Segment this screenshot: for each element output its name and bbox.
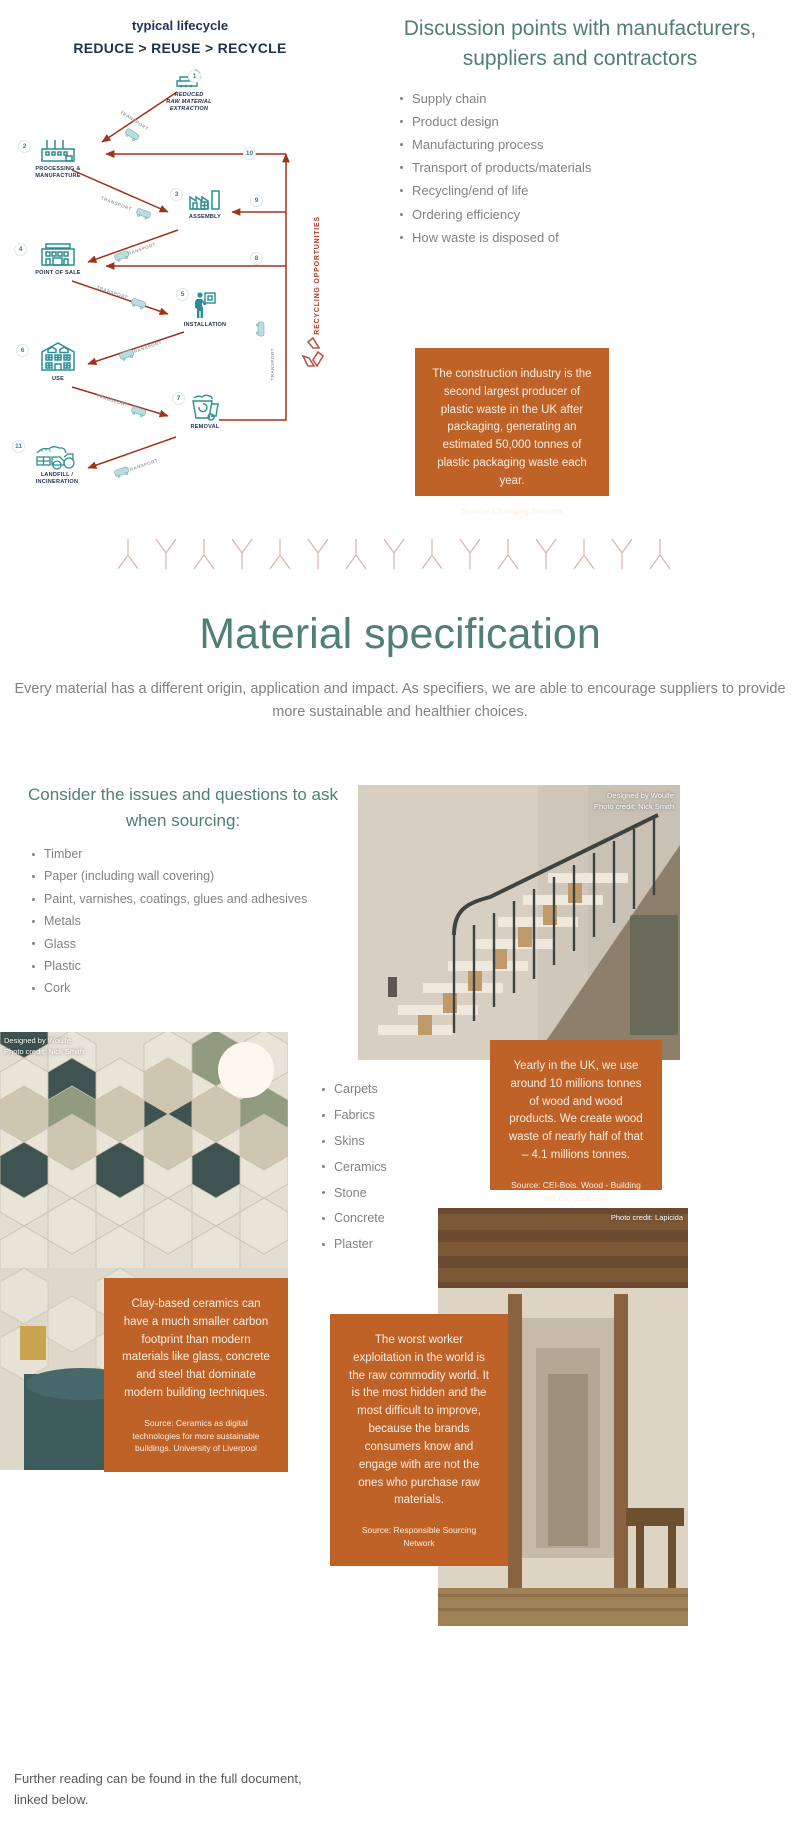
lifecycle-badge-1: 1 [188, 70, 201, 83]
lifecycle-node-label: POINT OF SALE [22, 270, 94, 277]
lifecycle-badge-4: 4 [14, 243, 27, 256]
stat-box-sourcing: The worst worker exploitation in the wor… [330, 1314, 508, 1566]
lifecycle-badge-8: 8 [250, 252, 263, 265]
stat-box-wood: Yearly in the UK, we use around 10 milli… [490, 1040, 662, 1190]
lifecycle-node-label: LANDFILL / INCINERATION [20, 472, 94, 486]
waste-bin-icon [187, 392, 223, 422]
lifecycle-badge-2: 2 [18, 140, 31, 153]
list-item: Transport of products/materials [398, 158, 800, 178]
lifecycle-node-label: REDUCED RAW MATERIAL EXTRACTION [150, 92, 228, 113]
stat-text: Clay-based ceramics can have a much smal… [120, 1296, 272, 1403]
list-item: Manufacturing process [398, 135, 800, 155]
sourcing-materials-list-a: Timber Paper (including wall covering) P… [30, 845, 350, 1002]
list-item: Timber [30, 845, 350, 864]
lifecycle-badge-6: 6 [16, 344, 29, 357]
stat-text: Yearly in the UK, we use around 10 milli… [506, 1058, 646, 1165]
list-item: Recycling/end of life [398, 181, 800, 201]
lifecycle-node-label: ASSEMBLY [170, 214, 240, 221]
stat-source: Source: Responsible Sourcing Network [346, 1524, 492, 1550]
lifecycle-node-label: INSTALLATION [172, 322, 238, 329]
list-item: Ordering efficiency [398, 205, 800, 225]
lifecycle-node-use: USE [26, 340, 90, 383]
sourcing-heading: Consider the issues and questions to ask… [18, 782, 348, 833]
factory-icon [38, 136, 78, 164]
further-reading-text: Further reading can be found in the full… [14, 1768, 314, 1810]
stat-source: Source: Changing Streams [431, 505, 593, 518]
discussion-heading: Discussion points with manufacturers, su… [360, 0, 800, 75]
list-item: Supply chain [398, 89, 800, 109]
lifecycle-badge-3: 3 [170, 188, 183, 201]
house-icon [36, 340, 80, 374]
list-item: Cork [30, 979, 350, 998]
lifecycle-node-processing: PROCESSING & MANUFACTURE [26, 136, 90, 180]
photo-credit: Photo credit: Lapicida [611, 1213, 683, 1224]
discussion-points-section: Discussion points with manufacturers, su… [360, 0, 800, 251]
photo-credit: Designed by Woulfe Photo credit: Nick Sm… [4, 1036, 84, 1058]
lifecycle-node-landfill: LANDFILL / INCINERATION [20, 444, 94, 486]
material-spec-intro: Every material has a different origin, a… [14, 678, 786, 725]
list-item: Glass [30, 935, 350, 954]
list-item: Paint, varnishes, coatings, glues and ad… [30, 890, 350, 909]
bulldozer-icon [33, 444, 81, 470]
staircase-image [358, 785, 680, 1060]
stat-source: Source: CEI-Bois. Wood - Building the Bi… [506, 1179, 646, 1205]
list-item: Product design [398, 112, 800, 132]
installer-icon [191, 290, 219, 320]
lifecycle-badge-11: 11 [12, 440, 25, 453]
lifecycle-diagram: typical lifecycle REDUCE > REUSE > RECYC… [0, 0, 360, 520]
stat-source: Source: Ceramics as digital technologies… [120, 1417, 272, 1455]
stat-text: The construction industry is the second … [431, 366, 593, 491]
assembly-plant-icon [185, 186, 225, 212]
list-item: How waste is disposed of [398, 228, 800, 248]
list-item: Metals [30, 912, 350, 931]
lifecycle-badge-5: 5 [176, 288, 189, 301]
recycling-opportunities-label: RECYCLING OPPORTUNITIES [314, 216, 321, 335]
lifecycle-node-label: USE [26, 376, 90, 383]
stat-box-ceramics: Clay-based ceramics can have a much smal… [104, 1278, 288, 1472]
transport-label-vertical: TRANSPORT [270, 348, 275, 381]
photo-credit: Designed by Woulfe Photo credit: Nick Sm… [594, 791, 674, 813]
lifecycle-node-point-of-sale: POINT OF SALE [22, 240, 94, 277]
lifecycle-node-label: REMOVAL [176, 424, 234, 431]
list-item: Plastic [30, 957, 350, 976]
lifecycle-badge-9: 9 [250, 194, 263, 207]
lifecycle-node-label: PROCESSING & MANUFACTURE [26, 166, 90, 180]
lifecycle-badge-7: 7 [172, 392, 185, 405]
shop-icon [37, 240, 79, 268]
chevron-divider [0, 525, 800, 605]
photo-staircase: Designed by Woulfe Photo credit: Nick Sm… [358, 785, 680, 1060]
recycle-icon [292, 330, 336, 374]
stat-text: The worst worker exploitation in the wor… [346, 1332, 492, 1510]
stat-box-plastic: The construction industry is the second … [415, 348, 609, 496]
page-title: Material specification [0, 610, 800, 659]
discussion-points-list: Supply chain Product design Manufacturin… [398, 89, 800, 248]
list-item: Paper (including wall covering) [30, 867, 350, 886]
lifecycle-badge-10: 10 [243, 147, 256, 160]
